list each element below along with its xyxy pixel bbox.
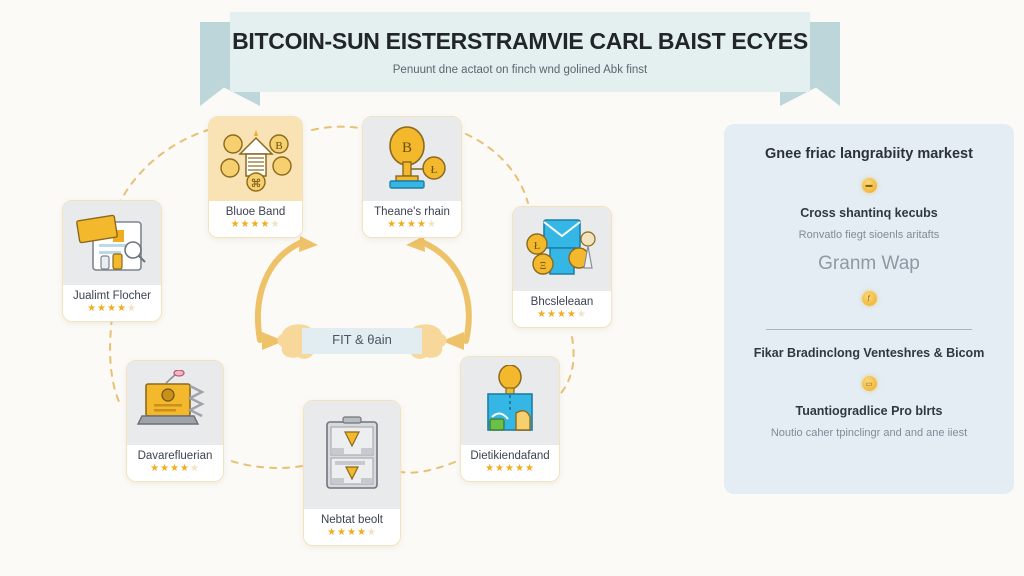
svg-text:⌘: ⌘ <box>250 178 261 190</box>
card-label: Bhcsleleaan <box>517 296 607 308</box>
card-label: Nebtat beolt <box>308 514 396 526</box>
rating-stars: ★★★★★ <box>367 220 457 230</box>
infographic-canvas: BITCOIN-SUN EISTERSTRAMVIE CARL BAIST EC… <box>0 0 1024 576</box>
svg-text:Ł: Ł <box>431 164 438 176</box>
panel-big-heading: Granm Wap <box>818 253 920 275</box>
card-art <box>304 401 400 509</box>
coin-badge-icon-3: ▭ <box>862 376 877 391</box>
card-footer: Dietikiendafand ★★★★★ <box>461 445 559 481</box>
panel-row-sub-3: Noutio caher tpinclingr and and ane iies… <box>771 427 967 439</box>
panel-title: Gnee friac langrabiity markest <box>765 146 973 162</box>
coin-badge-icon: ▬ <box>862 178 877 193</box>
card-bluoe-band[interactable]: B ⌘ Bluoe Band ★★★★★ <box>208 116 303 238</box>
card-art: B ⌘ <box>209 117 302 201</box>
page-subtitle: Penuunt dne actaot on finch wnd golined … <box>230 64 810 76</box>
svg-text:B: B <box>275 140 282 152</box>
envelope-coins-icon: Ł Ξ <box>522 214 602 284</box>
connector-6-7 <box>228 460 302 468</box>
rating-stars: ★★★★★ <box>67 304 157 314</box>
card-bhcsleleaan[interactable]: Ł Ξ Bhcsleleaan ★★★★★ <box>512 206 612 328</box>
panel-row-head-1: Cross shantinq kecubs <box>800 206 938 220</box>
card-footer: Nebtat beolt ★★★★★ <box>304 509 400 545</box>
connector-2-3 <box>312 127 360 130</box>
rating-stars: ★★★★★ <box>465 464 555 474</box>
card-footer: Jualimt Flocher ★★★★★ <box>63 285 161 321</box>
side-info-panel: Gnee friac langrabiity markest ▬ Cross s… <box>724 124 1014 494</box>
header-banner: BITCOIN-SUN EISTERSTRAMVIE CARL BAIST EC… <box>200 4 840 104</box>
hub-label: FIT & θain <box>302 332 422 347</box>
control-panel-icon <box>317 412 387 498</box>
connector-3-4 <box>466 134 528 203</box>
document-voucher-icon <box>73 210 151 276</box>
panel-row-head-2: Fikar Bradinclong Venteshres & Bicom <box>754 346 985 360</box>
panel-row-head-3: Tuantiogradlice Pro blrts <box>795 404 942 418</box>
coin-badge-icon-2: ƒ <box>862 291 877 306</box>
arrow-right-head-icon <box>406 236 425 252</box>
card-label: Bluoe Band <box>213 206 298 218</box>
card-dietikiendafand[interactable]: Dietikiendafand ★★★★★ <box>460 356 560 482</box>
card-label: Theane's rhain <box>367 206 457 218</box>
card-theanes-rhain[interactable]: B Ł Theane's rhain ★★★★★ <box>362 116 462 238</box>
arrow-left-head-icon <box>299 236 318 252</box>
connector-7-1 <box>110 318 120 404</box>
card-footer: Theane's rhain ★★★★★ <box>363 201 461 237</box>
card-davarefluerian[interactable]: Davarefluerian ★★★★★ <box>126 360 224 482</box>
rating-stars: ★★★★★ <box>213 220 298 230</box>
card-footer: Bhcsleleaan ★★★★★ <box>513 291 611 327</box>
connector-5-6 <box>402 462 455 473</box>
laptop-shred-icon <box>136 370 214 436</box>
card-art <box>461 357 559 445</box>
card-label: Jualimt Flocher <box>67 290 157 302</box>
svg-text:B: B <box>402 140 412 156</box>
card-art: Ł Ξ <box>513 207 611 291</box>
rating-stars: ★★★★★ <box>308 528 396 538</box>
mining-rig-coins-icon: B ⌘ <box>216 124 296 194</box>
rating-stars: ★★★★★ <box>131 464 219 474</box>
card-jualimt-flocher[interactable]: Jualimt Flocher ★★★★★ <box>62 200 162 322</box>
bitcoin-trophy-icon: B Ł <box>374 124 450 194</box>
card-label: Davarefluerian <box>131 450 219 462</box>
card-art <box>63 201 161 285</box>
panel-divider <box>766 329 972 330</box>
svg-text:Ł: Ł <box>534 241 540 252</box>
card-footer: Bluoe Band ★★★★★ <box>209 201 302 237</box>
card-footer: Davarefluerian ★★★★★ <box>127 445 223 481</box>
card-art: B Ł <box>363 117 461 201</box>
panel-row-sub-1: Ronvatlo fiegt sioenls aritafts <box>799 229 940 241</box>
center-hub: FIT & θain <box>272 320 452 362</box>
svg-text:Ξ: Ξ <box>540 261 546 272</box>
connector-1-2 <box>118 130 208 206</box>
rating-stars: ★★★★★ <box>517 310 607 320</box>
page-title: BITCOIN-SUN EISTERSTRAMVIE CARL BAIST EC… <box>230 28 810 55</box>
lightbulb-vault-icon <box>472 365 548 437</box>
card-art <box>127 361 223 445</box>
card-label: Dietikiendafand <box>465 450 555 462</box>
card-nebtat-beolt[interactable]: Nebtat beolt ★★★★★ <box>303 400 401 546</box>
